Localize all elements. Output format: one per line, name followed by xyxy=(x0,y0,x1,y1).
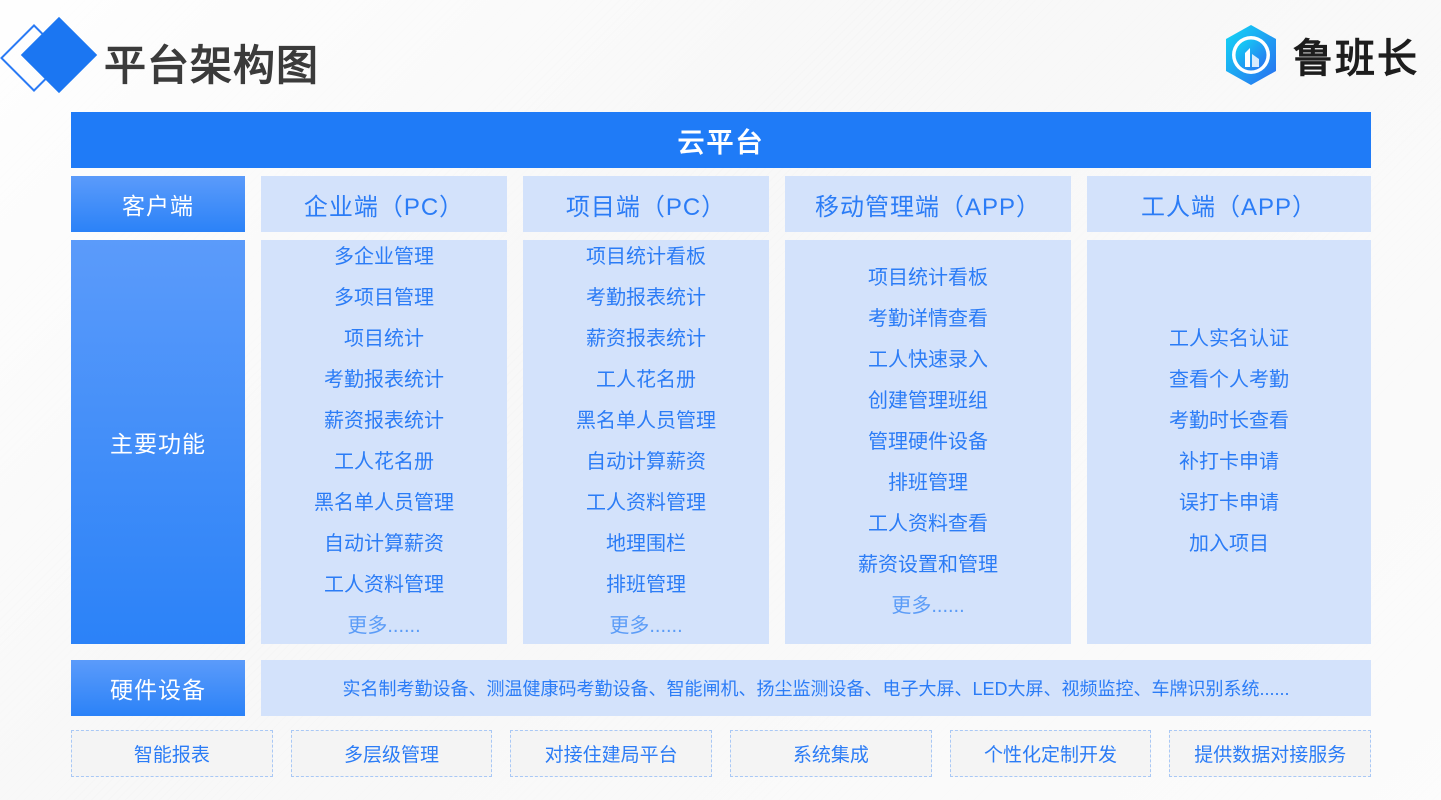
function-item[interactable]: 地理围栏 xyxy=(606,525,686,564)
function-item-more[interactable]: 更多...... xyxy=(891,587,964,626)
function-item[interactable]: 补打卡申请 xyxy=(1179,443,1279,482)
function-item[interactable]: 管理硬件设备 xyxy=(868,423,988,462)
cloud-platform-bar: 云平台 xyxy=(71,112,1371,168)
function-item[interactable]: 考勤详情查看 xyxy=(868,300,988,339)
function-item[interactable]: 薪资设置和管理 xyxy=(858,546,998,585)
function-item-more[interactable]: 更多...... xyxy=(609,607,682,646)
function-item[interactable]: 工人实名认证 xyxy=(1169,320,1289,359)
function-item[interactable]: 加入项目 xyxy=(1189,525,1269,564)
function-item[interactable]: 项目统计看板 xyxy=(868,259,988,298)
function-item[interactable]: 工人快速录入 xyxy=(868,341,988,380)
function-item[interactable]: 查看个人考勤 xyxy=(1169,361,1289,400)
function-item[interactable]: 项目统计 xyxy=(344,320,424,359)
hardware-device-list: 实名制考勤设备、测温健康码考勤设备、智能闸机、扬尘监测设备、电子大屏、LED大屏… xyxy=(261,660,1371,716)
function-item[interactable]: 黑名单人员管理 xyxy=(576,402,716,441)
row-label-client: 客户端 xyxy=(71,176,245,232)
capability-row: 智能报表 多层级管理 对接住建局平台 系统集成 个性化定制开发 提供数据对接服务 xyxy=(71,730,1371,777)
row-label-hardware: 硬件设备 xyxy=(71,660,245,716)
function-item[interactable]: 黑名单人员管理 xyxy=(314,484,454,523)
function-item[interactable]: 多项目管理 xyxy=(334,279,434,318)
capability-box-custom-development[interactable]: 个性化定制开发 xyxy=(950,730,1152,777)
function-item[interactable]: 误打卡申请 xyxy=(1179,484,1279,523)
function-panel-mobile-admin: 项目统计看板 考勤详情查看 工人快速录入 创建管理班组 管理硬件设备 排班管理 … xyxy=(785,240,1071,644)
column-header-project[interactable]: 项目端（PC） xyxy=(523,176,769,232)
hexagon-building-icon xyxy=(1221,23,1281,87)
capability-box-system-integration[interactable]: 系统集成 xyxy=(730,730,932,777)
function-item[interactable]: 工人花名册 xyxy=(334,443,434,482)
brand-logo: 鲁班长 xyxy=(1221,22,1419,88)
diamond-logo-icon xyxy=(8,22,104,92)
capability-box-data-service[interactable]: 提供数据对接服务 xyxy=(1169,730,1371,777)
column-header-mobile-admin[interactable]: 移动管理端（APP） xyxy=(785,176,1071,232)
function-panel-enterprise: 多企业管理 多项目管理 项目统计 考勤报表统计 薪资报表统计 工人花名册 黑名单… xyxy=(261,240,507,644)
hardware-row: 硬件设备 实名制考勤设备、测温健康码考勤设备、智能闸机、扬尘监测设备、电子大屏、… xyxy=(71,660,1371,716)
function-item[interactable]: 自动计算薪资 xyxy=(586,443,706,482)
function-item-more[interactable]: 更多...... xyxy=(347,607,420,646)
function-item[interactable]: 排班管理 xyxy=(888,464,968,503)
function-item[interactable]: 薪资报表统计 xyxy=(324,402,444,441)
capability-box-multilevel-management[interactable]: 多层级管理 xyxy=(291,730,493,777)
function-item[interactable]: 工人资料管理 xyxy=(324,566,444,605)
function-item[interactable]: 考勤报表统计 xyxy=(586,279,706,318)
row-label-main-functions: 主要功能 xyxy=(71,240,245,644)
function-panel-project: 项目统计看板 考勤报表统计 薪资报表统计 工人花名册 黑名单人员管理 自动计算薪… xyxy=(523,240,769,644)
page-title: 平台架构图 xyxy=(104,32,319,93)
column-header-worker[interactable]: 工人端（APP） xyxy=(1087,176,1371,232)
main-functions-row: 主要功能 多企业管理 多项目管理 项目统计 考勤报表统计 薪资报表统计 工人花名… xyxy=(71,240,1371,644)
function-item[interactable]: 薪资报表统计 xyxy=(586,320,706,359)
function-item[interactable]: 项目统计看板 xyxy=(586,238,706,277)
page-header: 平台架构图 鲁班长 xyxy=(0,0,1441,110)
brand-name: 鲁班长 xyxy=(1293,26,1419,84)
capability-box-government-platform[interactable]: 对接住建局平台 xyxy=(510,730,712,777)
function-item[interactable]: 创建管理班组 xyxy=(868,382,988,421)
function-item[interactable]: 自动计算薪资 xyxy=(324,525,444,564)
function-item[interactable]: 工人花名册 xyxy=(596,361,696,400)
function-item[interactable]: 工人资料查看 xyxy=(868,505,988,544)
function-item[interactable]: 工人资料管理 xyxy=(586,484,706,523)
function-item[interactable]: 考勤时长查看 xyxy=(1169,402,1289,441)
function-item[interactable]: 排班管理 xyxy=(606,566,686,605)
function-panel-worker: 工人实名认证 查看个人考勤 考勤时长查看 补打卡申请 误打卡申请 加入项目 xyxy=(1087,240,1371,644)
client-header-row: 客户端 企业端（PC） 项目端（PC） 移动管理端（APP） 工人端（APP） xyxy=(71,176,1371,232)
function-item[interactable]: 考勤报表统计 xyxy=(324,361,444,400)
capability-box-smart-report[interactable]: 智能报表 xyxy=(71,730,273,777)
function-item[interactable]: 多企业管理 xyxy=(334,238,434,277)
column-header-enterprise[interactable]: 企业端（PC） xyxy=(261,176,507,232)
architecture-diagram: 平台架构图 鲁班长 云平台 客户端 企业端（PC） xyxy=(0,0,1441,800)
